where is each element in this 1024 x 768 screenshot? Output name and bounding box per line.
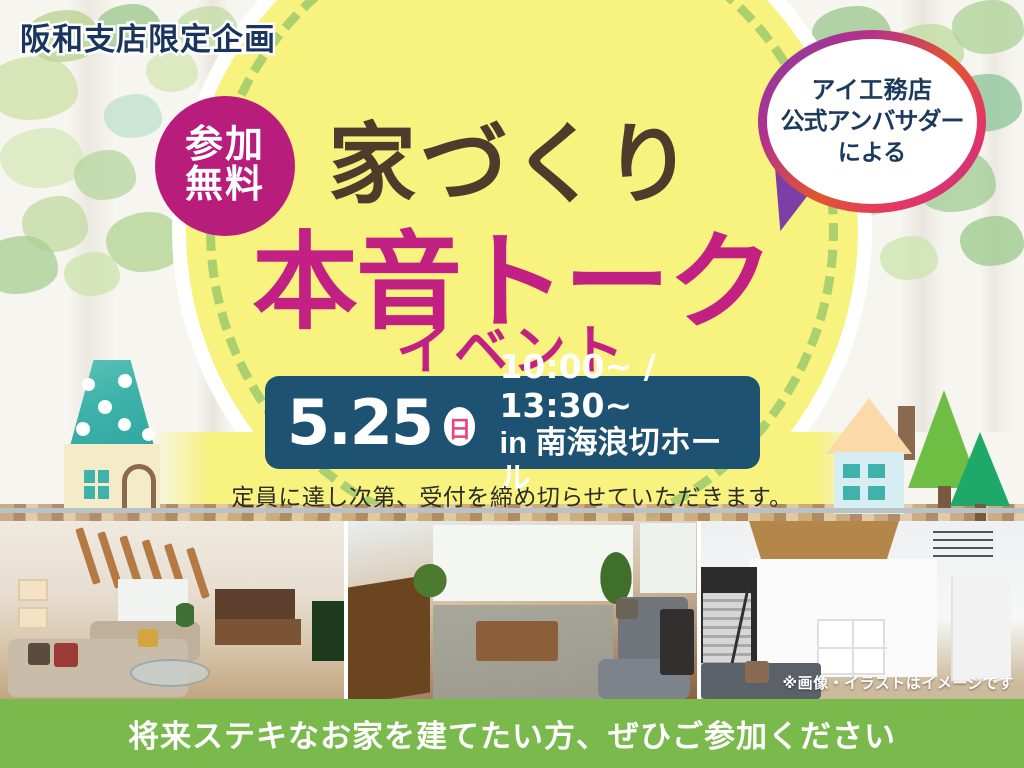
cushion — [138, 629, 158, 647]
free-participation-badge: 参加 無料 — [155, 96, 295, 236]
cushion — [745, 661, 769, 683]
tv-panel — [312, 601, 344, 661]
dining-chair — [660, 609, 694, 675]
hero-section: 家づくり 本音トーク イベント 阪和支店限定企画 参加 無料 アイ工務店 公式ア… — [0, 0, 1024, 521]
wall-niche — [18, 579, 48, 601]
white-bookshelf — [817, 619, 885, 675]
image-disclaimer: ※画像・イラストはイメージです — [783, 672, 1014, 693]
house-window — [843, 464, 860, 478]
bubble-line-2: 公式アンバサダー — [780, 107, 963, 138]
potted-plant — [410, 547, 450, 603]
coffee-table — [476, 621, 558, 661]
cushion — [28, 643, 50, 665]
cushion — [54, 643, 78, 667]
roof-dot — [76, 422, 90, 436]
wall-niche — [18, 607, 48, 629]
roof-dot — [142, 428, 155, 441]
cushion — [616, 599, 638, 619]
footer-message: 将来ステキなお家を建てたい方、ぜひご参加ください — [128, 711, 896, 756]
house-window — [868, 464, 885, 478]
potted-plant — [176, 603, 194, 633]
bubble-line-3: による — [838, 138, 906, 167]
bubble-line-1: アイ工務店 — [811, 76, 932, 107]
page-title: 阪和支店限定企画 — [20, 14, 276, 59]
window-glass — [640, 523, 696, 593]
badge-line-2: 無料 — [185, 166, 265, 206]
shelf-divider — [852, 621, 854, 677]
capacity-notice: 定員に達し次第、受付を締め切らせていただきます。 — [0, 478, 1024, 512]
speech-bubble-inner: アイ工務店 公式アンバサダー による — [767, 39, 977, 204]
date-details: 10:00~ / 13:30~ in 南海浪切ホール — [499, 348, 742, 496]
roof-dot — [98, 400, 112, 414]
badge-line-1: 参加 — [185, 126, 265, 166]
interior-door — [951, 577, 1011, 681]
event-poster: 家づくり 本音トーク イベント 阪和支店限定企画 参加 無料 アイ工務店 公式ア… — [0, 0, 1024, 768]
footer-banner: 将来ステキなお家を建てたい方、ぜひご参加ください — [0, 699, 1024, 768]
coffee-table — [130, 659, 210, 687]
ambassador-speech-bubble: アイ工務店 公式アンバサダー による — [758, 30, 998, 230]
event-date: 5.25 — [287, 392, 432, 454]
interior-photo-3: ※画像・イラストはイメージです — [701, 521, 1024, 699]
roof-dot — [118, 418, 131, 431]
weekday-badge: 日 — [444, 407, 475, 446]
interior-photo-1 — [0, 521, 344, 699]
loft-railing — [933, 531, 993, 557]
photo-strip: ※画像・イラストはイメージです — [0, 521, 1024, 699]
event-times: 10:00~ / 13:30~ — [499, 348, 742, 425]
speech-bubble-body: アイ工務店 公式アンバサダー による — [758, 30, 986, 213]
wood-ceiling — [749, 521, 899, 559]
date-banner: 5.25 日 10:00~ / 13:30~ in 南海浪切ホール — [265, 376, 760, 469]
interior-photo-2 — [348, 521, 697, 699]
kitchen-counter — [215, 619, 301, 645]
